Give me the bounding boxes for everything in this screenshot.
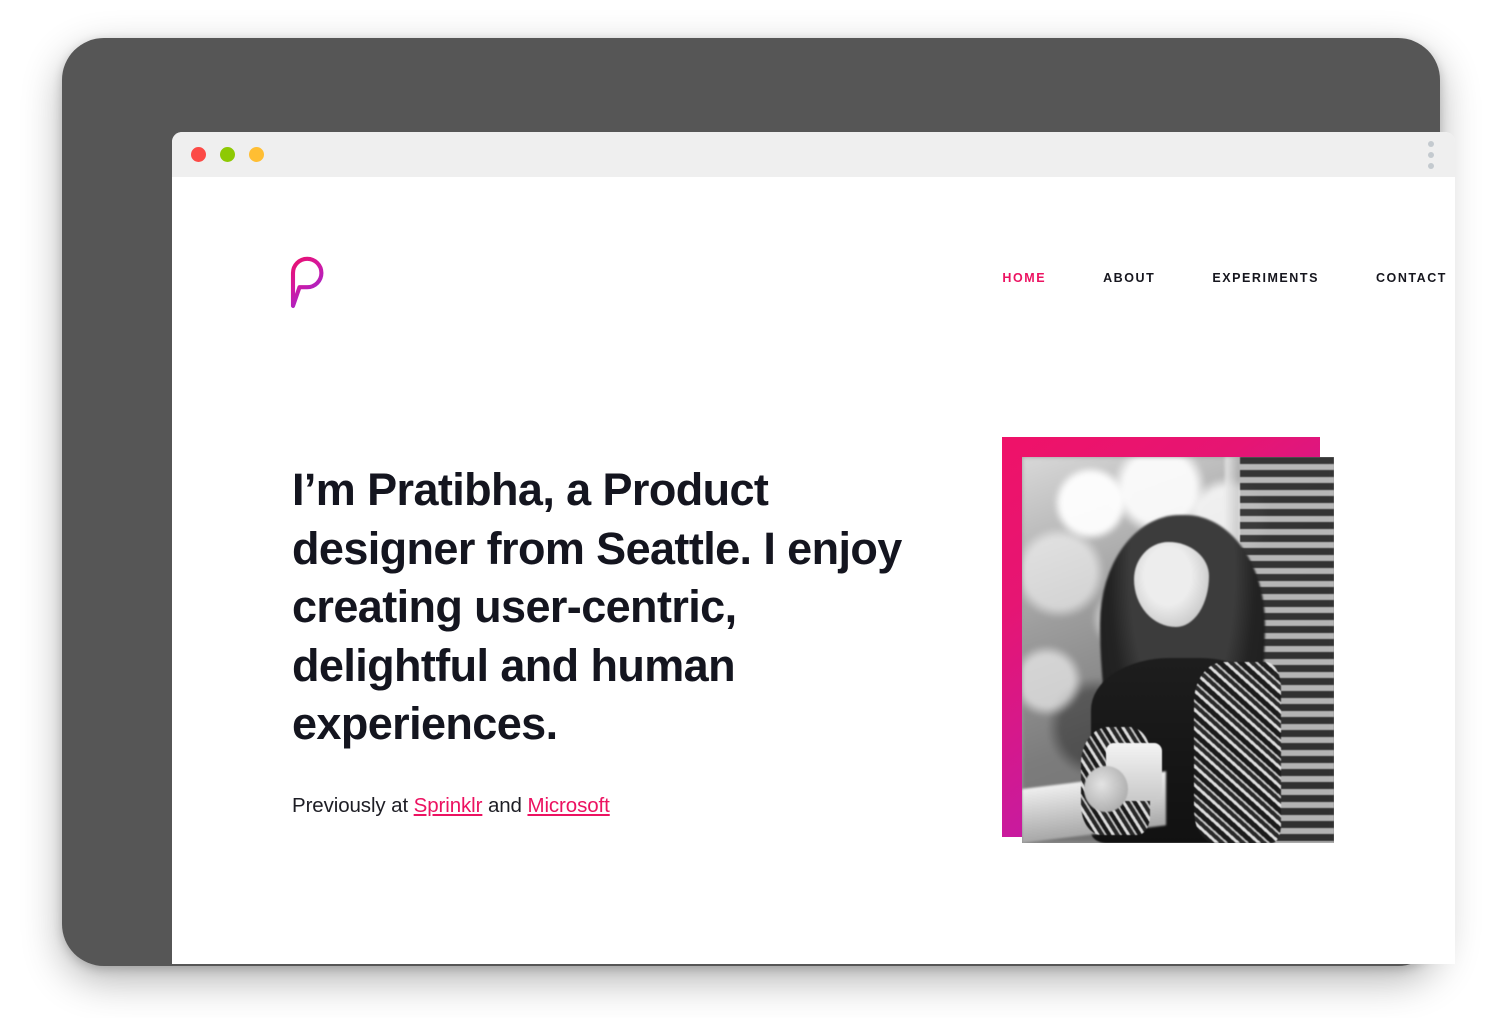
browser-window: HOME ABOUT EXPERIMENTS CONTACT I’m Prati… (172, 132, 1455, 964)
device-frame: HOME ABOUT EXPERIMENTS CONTACT I’m Prati… (62, 38, 1440, 966)
company-link-microsoft[interactable]: Microsoft (527, 794, 609, 817)
minimize-window-button[interactable] (220, 147, 235, 162)
kebab-dot-2 (1428, 152, 1434, 158)
hero-media-block (1002, 437, 1342, 857)
previously-at-line: Previously at Sprinklr and Microsoft (292, 792, 912, 820)
maximize-window-button[interactable] (249, 147, 264, 162)
photo-hand (1084, 766, 1128, 812)
portrait-photo-frame (1022, 457, 1334, 843)
kebab-dot-3 (1428, 163, 1434, 169)
portrait-photo (1022, 457, 1334, 843)
previously-prefix: Previously at (292, 794, 414, 817)
kebab-dot-1 (1428, 141, 1434, 147)
previously-conjunction: and (482, 794, 527, 817)
kebab-menu-icon[interactable] (1428, 141, 1439, 169)
page-content: HOME ABOUT EXPERIMENTS CONTACT I’m Prati… (172, 177, 1455, 964)
browser-titlebar (172, 132, 1455, 177)
company-link-sprinklr[interactable]: Sprinklr (414, 794, 483, 817)
traffic-lights (191, 147, 264, 162)
hero-section: I’m Pratibha, a Product designer from Se… (172, 177, 1455, 964)
page-title: I’m Pratibha, a Product designer from Se… (292, 461, 912, 754)
hero-text-block: I’m Pratibha, a Product designer from Se… (292, 461, 912, 820)
close-window-button[interactable] (191, 147, 206, 162)
photo-jacket (1194, 662, 1281, 843)
